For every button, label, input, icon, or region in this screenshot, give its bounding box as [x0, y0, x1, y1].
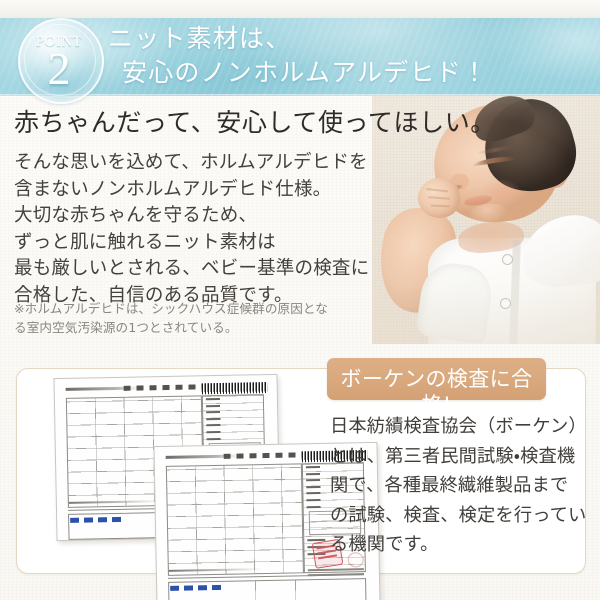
body-line-4: ずっと肌に触れるニット素材は [14, 230, 364, 257]
cert-desc-line-3: 関で、各種最終繊維製品まで [330, 471, 582, 501]
certificate-documents [16, 368, 346, 572]
doc2-blue-logo [170, 585, 224, 591]
body-line-3: 大切な赤ちゃんを守るため、 [14, 203, 364, 230]
body-copy: そんな思いを込めて、ホルムアルデヒドを 含まないノンホルムアルデヒド仕様。 大切… [14, 150, 364, 309]
cert-desc-line-1: 日本紡績検査協会（ボーケン） [330, 412, 582, 442]
banner-headline-line2: 安心のノンホルムアルデヒド！ [108, 56, 594, 90]
badge-point-number: 2 [16, 46, 102, 92]
doc1-side-labels [206, 397, 259, 444]
footnote: ※ホルムアルデヒドは、シックハウス症候群の原因とな る室内空気汚染源の1つとされ… [14, 300, 396, 337]
doc2-fine-print [308, 568, 364, 579]
banner-headline-line1: ニット素材は、 [108, 24, 291, 53]
body-line-2: 含まないノンホルムアルデヒド仕様。 [14, 177, 364, 204]
banner-headline: ニット素材は、 安心のノンホルムアルデヒド！ [108, 22, 594, 90]
body-line-1: そんな思いを込めて、ホルムアルデヒドを [14, 150, 364, 177]
doc2-result-table [166, 463, 304, 576]
top-cream-strip [0, 0, 600, 18]
cert-desc-line-2: とは、第三者民間試験・検査機 [330, 442, 582, 472]
point2-promo-page: POINT 2 ニット素材は、 安心のノンホルムアルデヒド！ 赤ちゃんだって、安… [0, 0, 600, 600]
cert-desc-line-5: る機関です。 [330, 530, 582, 560]
doc1-barcode [202, 382, 268, 394]
cert-desc-line-4: の試験、検査、検定を行ってい [330, 501, 582, 531]
certification-badge-label: ボーケンの検査に合格! [327, 366, 546, 418]
main-headline: 赤ちゃんだって、安心して使ってほしい。 [14, 108, 496, 138]
doc1-blue-logo [70, 517, 124, 523]
certification-badge: ボーケンの検査に合格! [327, 358, 546, 400]
footnote-line-2: る室内空気汚染源の1つとされている。 [14, 319, 396, 338]
footnote-line-1: ※ホルムアルデヒドは、シックハウス症候群の原因とな [14, 300, 396, 319]
certification-description: 日本紡績検査協会（ボーケン） とは、第三者民間試験・検査機 関で、各種最終繊維製… [330, 412, 582, 560]
body-line-5: 最も厳しいとされる、ベビー基準の検査に [14, 256, 364, 283]
point-badge: POINT 2 [16, 20, 104, 96]
